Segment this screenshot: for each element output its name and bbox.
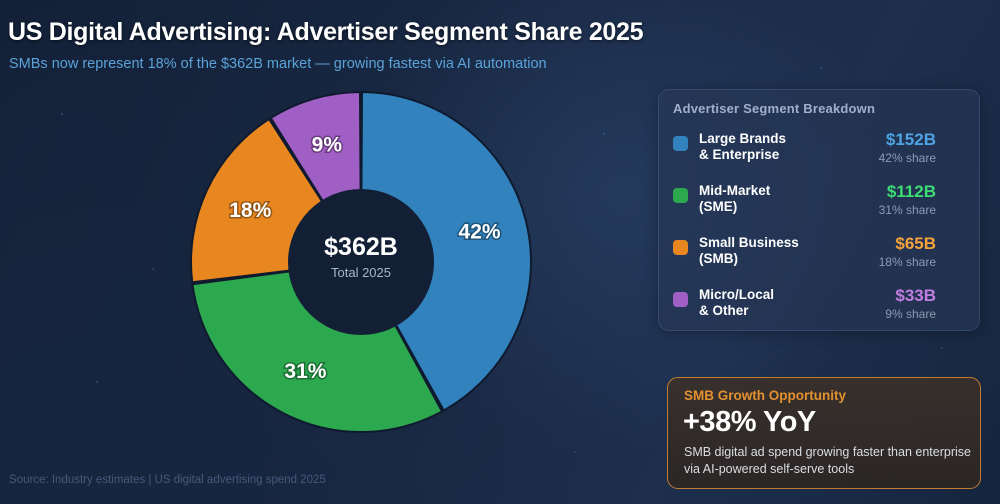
- donut-slice-label: 9%: [312, 133, 343, 156]
- legend-segment-name: Micro/Local & Other: [699, 287, 774, 319]
- legend-row[interactable]: Micro/Local & Other$33B9% share: [659, 287, 979, 339]
- legend-segment-share: 42% share: [879, 151, 936, 165]
- legend-segment-name: Large Brands & Enterprise: [699, 131, 786, 163]
- source-note: Source: Industry estimates | US digital …: [9, 474, 326, 486]
- donut-hole: [288, 189, 434, 335]
- legend-panel: Advertiser Segment Breakdown Large Brand…: [658, 89, 980, 331]
- legend-row-list: Large Brands & Enterprise$152B42% shareM…: [659, 131, 979, 339]
- legend-segment-share: 31% share: [879, 203, 936, 217]
- smb-growth-callout: SMB Growth Opportunity +38% YoY SMB digi…: [667, 377, 981, 489]
- legend-color-swatch: [673, 240, 688, 255]
- donut-slice-label: 18%: [229, 199, 271, 222]
- legend-segment-share: 9% share: [885, 307, 936, 321]
- legend-segment-share: 18% share: [879, 255, 936, 269]
- donut-center-value: $362B: [324, 233, 398, 261]
- legend-color-swatch: [673, 136, 688, 151]
- legend-row[interactable]: Mid-Market (SME)$112B31% share: [659, 183, 979, 235]
- legend-segment-name: Mid-Market (SME): [699, 183, 770, 215]
- page-title: US Digital Advertising: Advertiser Segme…: [8, 18, 643, 47]
- legend-segment-value: $112B: [887, 182, 936, 202]
- donut-slice-label: 42%: [459, 221, 501, 244]
- legend-segment-name: Small Business (SMB): [699, 235, 799, 267]
- infographic-canvas: US Digital Advertising: Advertiser Segme…: [0, 0, 1000, 504]
- legend-segment-value: $65B: [895, 234, 936, 254]
- callout-description: SMB digital ad spend growing faster than…: [684, 444, 974, 478]
- legend-color-swatch: [673, 292, 688, 307]
- callout-metric: +38% YoY: [683, 406, 816, 439]
- legend-color-swatch: [673, 188, 688, 203]
- legend-row[interactable]: Small Business (SMB)$65B18% share: [659, 235, 979, 287]
- donut-chart: $362B Total 2025 42%31%18%9%: [185, 85, 540, 445]
- callout-title: SMB Growth Opportunity: [684, 388, 846, 403]
- donut-center-label: Total 2025: [331, 265, 391, 280]
- legend-segment-value: $33B: [895, 286, 936, 306]
- page-subtitle: SMBs now represent 18% of the $362B mark…: [9, 56, 547, 72]
- legend-title: Advertiser Segment Breakdown: [673, 101, 875, 116]
- legend-row[interactable]: Large Brands & Enterprise$152B42% share: [659, 131, 979, 183]
- legend-segment-value: $152B: [886, 130, 936, 150]
- donut-slice-label: 31%: [284, 360, 326, 383]
